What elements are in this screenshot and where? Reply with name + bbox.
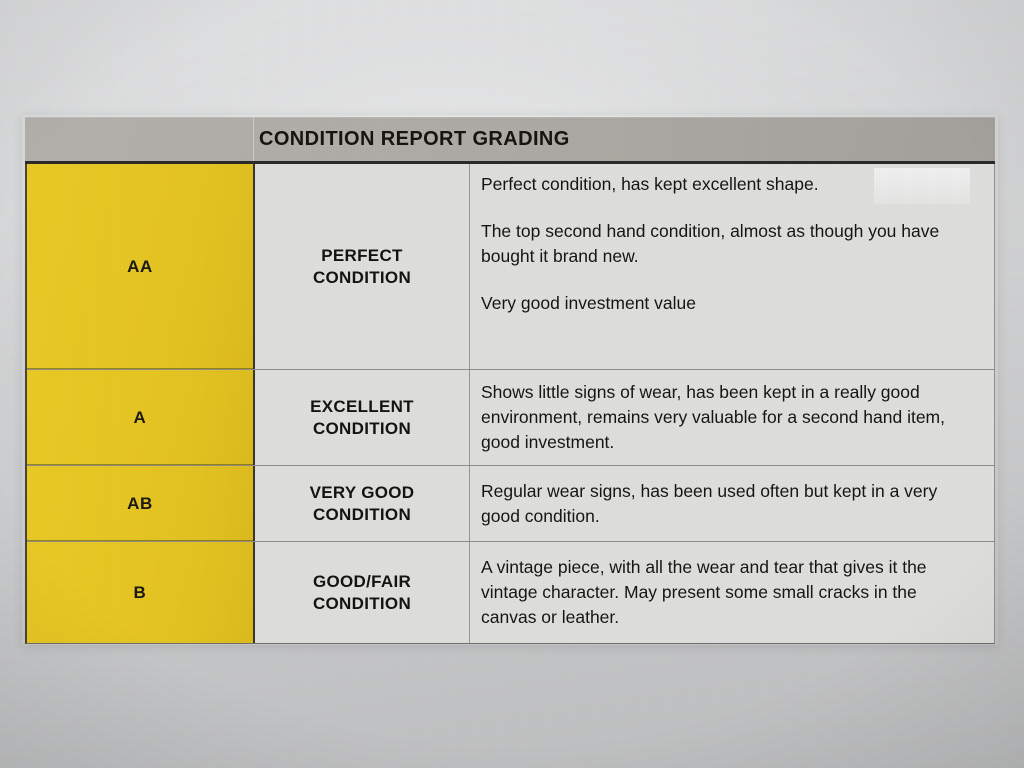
condition-label-line2: CONDITION [313,593,411,614]
table-row: B GOOD/FAIR CONDITION A vintage piece, w… [27,542,994,643]
description-paragraph: Shows little signs of wear, has been kep… [481,380,976,455]
table-row: AA PERFECT CONDITION Perfect condition, … [27,164,994,370]
grade-cell-aa: AA [27,164,255,369]
condition-label-line1: EXCELLENT [310,396,414,417]
description-paragraph: A vintage piece, with all the wear and t… [481,555,976,630]
description-cell-ab: Regular wear signs, has been used often … [470,466,994,541]
table-title: CONDITION REPORT GRADING [259,128,570,151]
description-paragraph: Very good investment value [481,291,976,316]
grade-cell-a: A [27,370,255,465]
condition-label-line2: CONDITION [310,418,414,439]
condition-label-aa: PERFECT CONDITION [255,164,470,369]
description-paragraph: Perfect condition, has kept excellent sh… [481,172,976,197]
condition-label-line1: PERFECT [313,245,411,266]
condition-label-a: EXCELLENT CONDITION [255,370,470,465]
grade-cell-b: B [27,542,255,643]
condition-label-line1: VERY GOOD [310,482,415,503]
table-body: AA PERFECT CONDITION Perfect condition, … [25,164,995,644]
condition-label-line2: CONDITION [313,267,411,288]
grade-cell-ab: AB [27,466,255,541]
table-header-band: CONDITION REPORT GRADING [25,117,995,164]
condition-label-line1: GOOD/FAIR [313,571,411,592]
description-paragraph: Regular wear signs, has been used often … [481,479,976,529]
description-paragraph: The top second hand condition, almost as… [481,219,976,269]
table-row: A EXCELLENT CONDITION Shows little signs… [27,370,994,466]
condition-label-b: GOOD/FAIR CONDITION [255,542,470,643]
description-cell-b: A vintage piece, with all the wear and t… [470,542,994,643]
description-cell-aa: Perfect condition, has kept excellent sh… [470,164,994,369]
table-row: AB VERY GOOD CONDITION Regular wear sign… [27,466,994,542]
condition-report-grading-table: CONDITION REPORT GRADING AA PERFECT COND… [25,117,995,644]
header-column-seam [253,117,254,161]
condition-label-ab: VERY GOOD CONDITION [255,466,470,541]
condition-label-line2: CONDITION [310,504,415,525]
description-cell-a: Shows little signs of wear, has been kep… [470,370,994,465]
